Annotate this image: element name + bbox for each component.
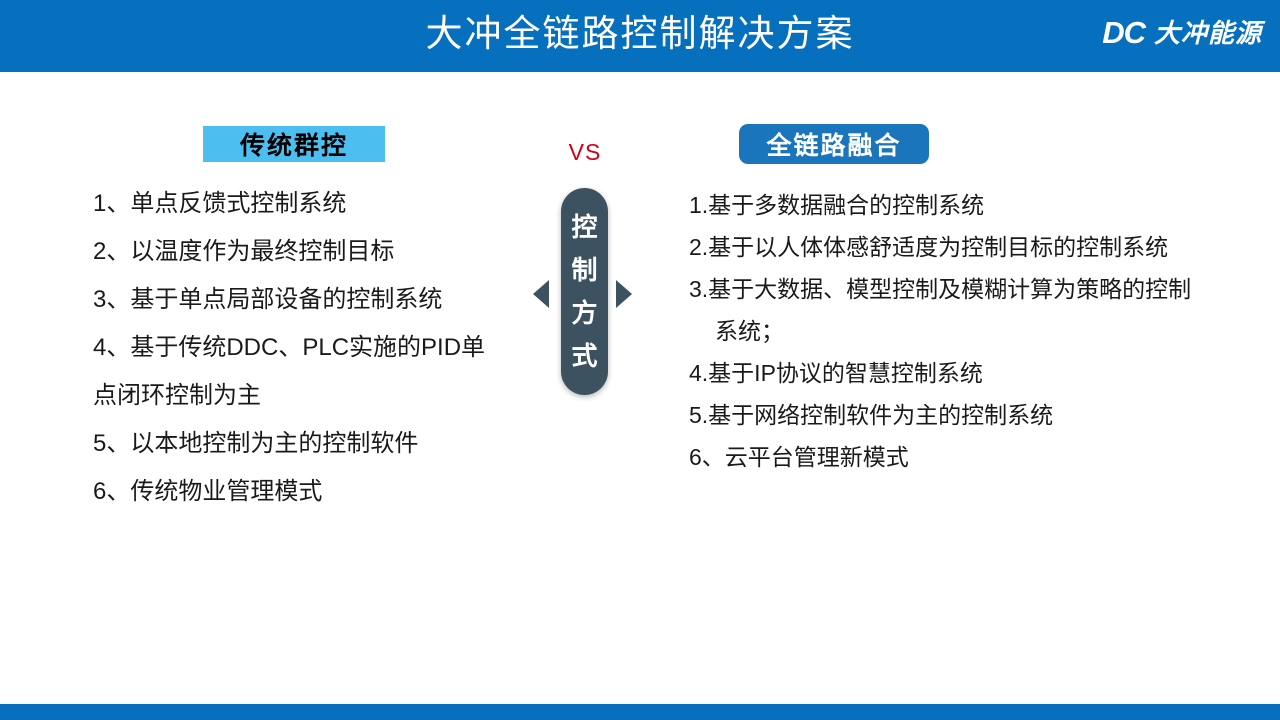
list-item: 1、单点反馈式控制系统 bbox=[93, 180, 543, 228]
right-column-list: 1.基于多数据融合的控制系统 2.基于以人体体感舒适度为控制目标的控制系统 3.… bbox=[689, 184, 1269, 478]
list-item: 5.基于网络控制软件为主的控制系统 bbox=[689, 394, 1269, 436]
list-item: 3.基于大数据、模型控制及模糊计算为策略的控制 bbox=[689, 268, 1269, 310]
vs-label: VS bbox=[540, 139, 630, 166]
logo-company-name: 大冲能源 bbox=[1154, 16, 1262, 50]
list-item: 6、传统物业管理模式 bbox=[93, 468, 543, 516]
arrow-right-icon bbox=[616, 280, 632, 308]
center-axis-pill: 控 制 方 式 bbox=[561, 188, 608, 395]
center-axis-char: 制 bbox=[571, 249, 597, 292]
left-column-badge: 传统群控 bbox=[203, 126, 385, 162]
list-item: 4.基于IP协议的智慧控制系统 bbox=[689, 352, 1269, 394]
left-column-list: 1、单点反馈式控制系统 2、以温度作为最终控制目标 3、基于单点局部设备的控制系… bbox=[93, 180, 543, 516]
center-axis-char: 控 bbox=[571, 206, 597, 249]
list-item-continuation: 系统； bbox=[689, 310, 1269, 352]
slide-canvas: 大冲全链路控制解决方案 DC 大冲能源 传统群控 1、单点反馈式控制系统 2、以… bbox=[0, 0, 1280, 720]
list-item: 5、以本地控制为主的控制软件 bbox=[93, 420, 543, 468]
list-item: 2.基于以人体体感舒适度为控制目标的控制系统 bbox=[689, 226, 1269, 268]
list-item-continuation: 点闭环控制为主 bbox=[93, 372, 543, 420]
center-axis-char: 方 bbox=[571, 292, 597, 335]
arrow-left-icon bbox=[533, 280, 549, 308]
list-item: 1.基于多数据融合的控制系统 bbox=[689, 184, 1269, 226]
right-column-badge: 全链路融合 bbox=[739, 124, 929, 164]
footer-bar bbox=[0, 704, 1280, 720]
list-item: 2、以温度作为最终控制目标 bbox=[93, 228, 543, 276]
list-item: 6、云平台管理新模式 bbox=[689, 436, 1269, 478]
logo-mark-dc: DC bbox=[1102, 16, 1145, 50]
brand-logo: DC 大冲能源 bbox=[1102, 16, 1262, 50]
list-item: 4、基于传统DDC、PLC实施的PID单 bbox=[93, 324, 543, 372]
center-axis-char: 式 bbox=[571, 335, 597, 378]
list-item: 3、基于单点局部设备的控制系统 bbox=[93, 276, 543, 324]
page-title: 大冲全链路控制解决方案 bbox=[0, 10, 1280, 58]
